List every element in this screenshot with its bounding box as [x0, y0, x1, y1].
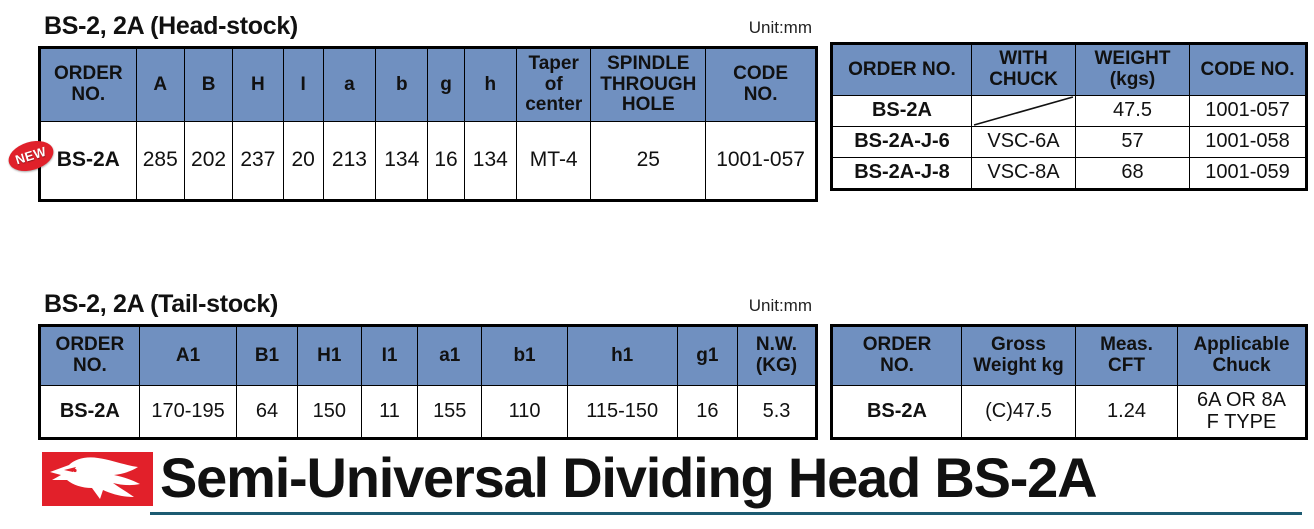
cell-code-no: 1001-058 — [1190, 127, 1307, 158]
headstock-caption: BS-2, 2A (Head-stock) — [44, 12, 298, 41]
cell-g1: 16 — [677, 386, 737, 439]
code-line2: NO. — [708, 85, 813, 106]
cell-g-lower: 16 — [428, 122, 464, 201]
col-header-b-lower: b — [376, 48, 428, 122]
spindle-line3: HOLE — [593, 95, 703, 116]
chuck-weight-table: ORDER NO. WITH CHUCK WEIGHT (kgs) CODE N… — [830, 42, 1308, 191]
cell-weight: 57 — [1076, 127, 1190, 158]
col-header-weight: WEIGHT (kgs) — [1076, 44, 1190, 96]
tailstock-table: ORDER NO. A1 B1 H1 I1 a1 b1 h1 g1 N.W. (… — [38, 324, 818, 440]
col-header-a: A — [136, 48, 184, 122]
cell-order-no: BS-2A — [832, 96, 972, 127]
order-no-line1: ORDER — [43, 335, 137, 356]
cell-h1-lower: 115-150 — [567, 386, 677, 439]
col-header-order-no: ORDER NO. — [832, 44, 972, 96]
shipping-table: ORDER NO. Gross Weight kg Meas. CFT Appl… — [830, 324, 1308, 440]
title-underline-rule — [150, 512, 1302, 515]
order-no-line2: NO. — [43, 356, 137, 377]
cell-h-lower: 134 — [464, 122, 516, 201]
headstock-table: ORDER NO. A B H I a b g h Taper of cente… — [38, 46, 818, 202]
col-header-order-no: ORDER NO. — [40, 326, 140, 386]
cell-code-no: 1001-057 — [1190, 96, 1307, 127]
with-chuck-line1: WITH — [974, 49, 1073, 70]
taper-line3: center — [519, 95, 588, 116]
cell-h: 237 — [233, 122, 283, 201]
cell-order-no: BS-2A — [40, 386, 140, 439]
tailstock-header-row: ORDER NO. A1 B1 H1 I1 a1 b1 h1 g1 N.W. (… — [40, 326, 817, 386]
weight-line1: WEIGHT — [1078, 49, 1187, 70]
col-header-code-no: CODE NO. — [706, 48, 817, 122]
weight-line2: (kgs) — [1078, 70, 1187, 91]
col-header-taper-of-center: Taper of center — [516, 48, 590, 122]
order-no-line2: NO. — [43, 85, 134, 106]
cell-order-no: BS-2A-J-6 — [832, 127, 972, 158]
col-header-code-no: CODE NO. — [1190, 44, 1307, 96]
col-header-a1: A1 — [139, 326, 237, 386]
meas-line2: CFT — [1078, 356, 1175, 377]
table-row: BS-2A-J-8 VSC-8A 68 1001-059 — [832, 158, 1307, 190]
cell-applicable-chuck: 6A OR 8A F TYPE — [1178, 386, 1307, 439]
col-header-a1-lower: a1 — [418, 326, 482, 386]
applicable-chuck-value-line1: 6A OR 8A — [1180, 390, 1303, 412]
taper-line2: of — [519, 75, 588, 96]
col-header-h1-upper: H1 — [297, 326, 361, 386]
cell-b1-lower: 110 — [482, 386, 567, 439]
cell-order-no: BS-2A-J-8 — [832, 158, 972, 190]
chuck-header-row: ORDER NO. WITH CHUCK WEIGHT (kgs) CODE N… — [832, 44, 1307, 96]
table-row: BS-2A 285 202 237 20 213 134 16 134 MT-4… — [40, 122, 817, 201]
taper-line1: Taper — [519, 54, 588, 75]
tailstock-caption: BS-2, 2A (Tail-stock) — [44, 290, 278, 319]
gross-weight-line2: Weight kg — [964, 356, 1073, 377]
col-header-i: I — [283, 48, 323, 122]
col-header-meas-cft: Meas. CFT — [1076, 326, 1178, 386]
cell-a: 285 — [136, 122, 184, 201]
cell-weight: 68 — [1076, 158, 1190, 190]
cell-b-lower: 134 — [376, 122, 428, 201]
cell-order-no: BS-2A — [832, 386, 962, 439]
cell-spindle: 25 — [591, 122, 706, 201]
cell-b: 202 — [184, 122, 232, 201]
col-header-h-lower: h — [464, 48, 516, 122]
headstock-header-row: ORDER NO. A B H I a b g h Taper of cente… — [40, 48, 817, 122]
cell-gross-weight: (C)47.5 — [962, 386, 1076, 439]
cell-code-no: 1001-057 — [706, 122, 817, 201]
nw-line1: N.W. — [740, 335, 813, 356]
cell-with-chuck: VSC-6A — [972, 127, 1076, 158]
gross-weight-line1: Gross — [964, 335, 1073, 356]
cell-with-chuck: VSC-8A — [972, 158, 1076, 190]
eagle-head-icon — [42, 452, 153, 506]
cell-i1: 11 — [361, 386, 417, 439]
cell-a-lower: 213 — [323, 122, 375, 201]
spindle-line2: THROUGH — [593, 75, 703, 96]
cell-meas-cft: 1.24 — [1076, 386, 1178, 439]
order-no-line1: ORDER — [835, 335, 959, 356]
col-header-a-lower: a — [323, 48, 375, 122]
cell-i: 20 — [283, 122, 323, 201]
headstock-unit-label: Unit:mm — [660, 18, 812, 38]
meas-line1: Meas. — [1078, 335, 1175, 356]
col-header-b: B — [184, 48, 232, 122]
col-header-with-chuck: WITH CHUCK — [972, 44, 1076, 96]
col-header-order-no: ORDER NO. — [832, 326, 962, 386]
tailstock-unit-label: Unit:mm — [660, 296, 812, 316]
code-line1: CODE — [708, 64, 813, 85]
cell-h1-upper: 150 — [297, 386, 361, 439]
table-row: BS-2A (C)47.5 1.24 6A OR 8A F TYPE — [832, 386, 1307, 439]
eagle-logo — [42, 452, 153, 506]
col-header-h: H — [233, 48, 283, 122]
col-header-h1-lower: h1 — [567, 326, 677, 386]
shipping-header-row: ORDER NO. Gross Weight kg Meas. CFT Appl… — [832, 326, 1307, 386]
order-no-line1: ORDER — [43, 64, 134, 85]
nw-line2: (KG) — [740, 356, 813, 377]
col-header-i1: I1 — [361, 326, 417, 386]
cell-a1: 170-195 — [139, 386, 237, 439]
table-row: BS-2A 170-195 64 150 11 155 110 115-150 … — [40, 386, 817, 439]
diagonal-slash-icon — [972, 96, 1075, 126]
table-row: BS-2A-J-6 VSC-6A 57 1001-058 — [832, 127, 1307, 158]
cell-code-no: 1001-059 — [1190, 158, 1307, 190]
col-header-applicable-chuck: Applicable Chuck — [1178, 326, 1307, 386]
applicable-chuck-line1: Applicable — [1180, 335, 1303, 356]
col-header-g-lower: g — [428, 48, 464, 122]
col-header-spindle-through-hole: SPINDLE THROUGH HOLE — [591, 48, 706, 122]
col-header-b1-lower: b1 — [482, 326, 567, 386]
applicable-chuck-line2: Chuck — [1180, 356, 1303, 377]
table-row: BS-2A 47.5 1001-057 — [832, 96, 1307, 127]
col-header-g1: g1 — [677, 326, 737, 386]
col-header-gross-weight: Gross Weight kg — [962, 326, 1076, 386]
cell-a1-lower: 155 — [418, 386, 482, 439]
page-title: Semi-Universal Dividing Head BS-2A — [160, 440, 1096, 516]
col-header-nw: N.W. (KG) — [737, 326, 816, 386]
cell-weight: 47.5 — [1076, 96, 1190, 127]
cell-nw: 5.3 — [737, 386, 816, 439]
applicable-chuck-value-line2: F TYPE — [1180, 412, 1303, 434]
col-header-order-no: ORDER NO. — [40, 48, 137, 122]
cell-taper: MT-4 — [516, 122, 590, 201]
col-header-b1: B1 — [237, 326, 297, 386]
spindle-line1: SPINDLE — [593, 54, 703, 75]
with-chuck-line2: CHUCK — [974, 70, 1073, 91]
catalog-page: BS-2, 2A (Head-stock) Unit:mm ORDER NO. … — [0, 0, 1314, 529]
order-no-line2: NO. — [835, 356, 959, 377]
cell-b1: 64 — [237, 386, 297, 439]
cell-with-chuck-empty — [972, 96, 1076, 127]
